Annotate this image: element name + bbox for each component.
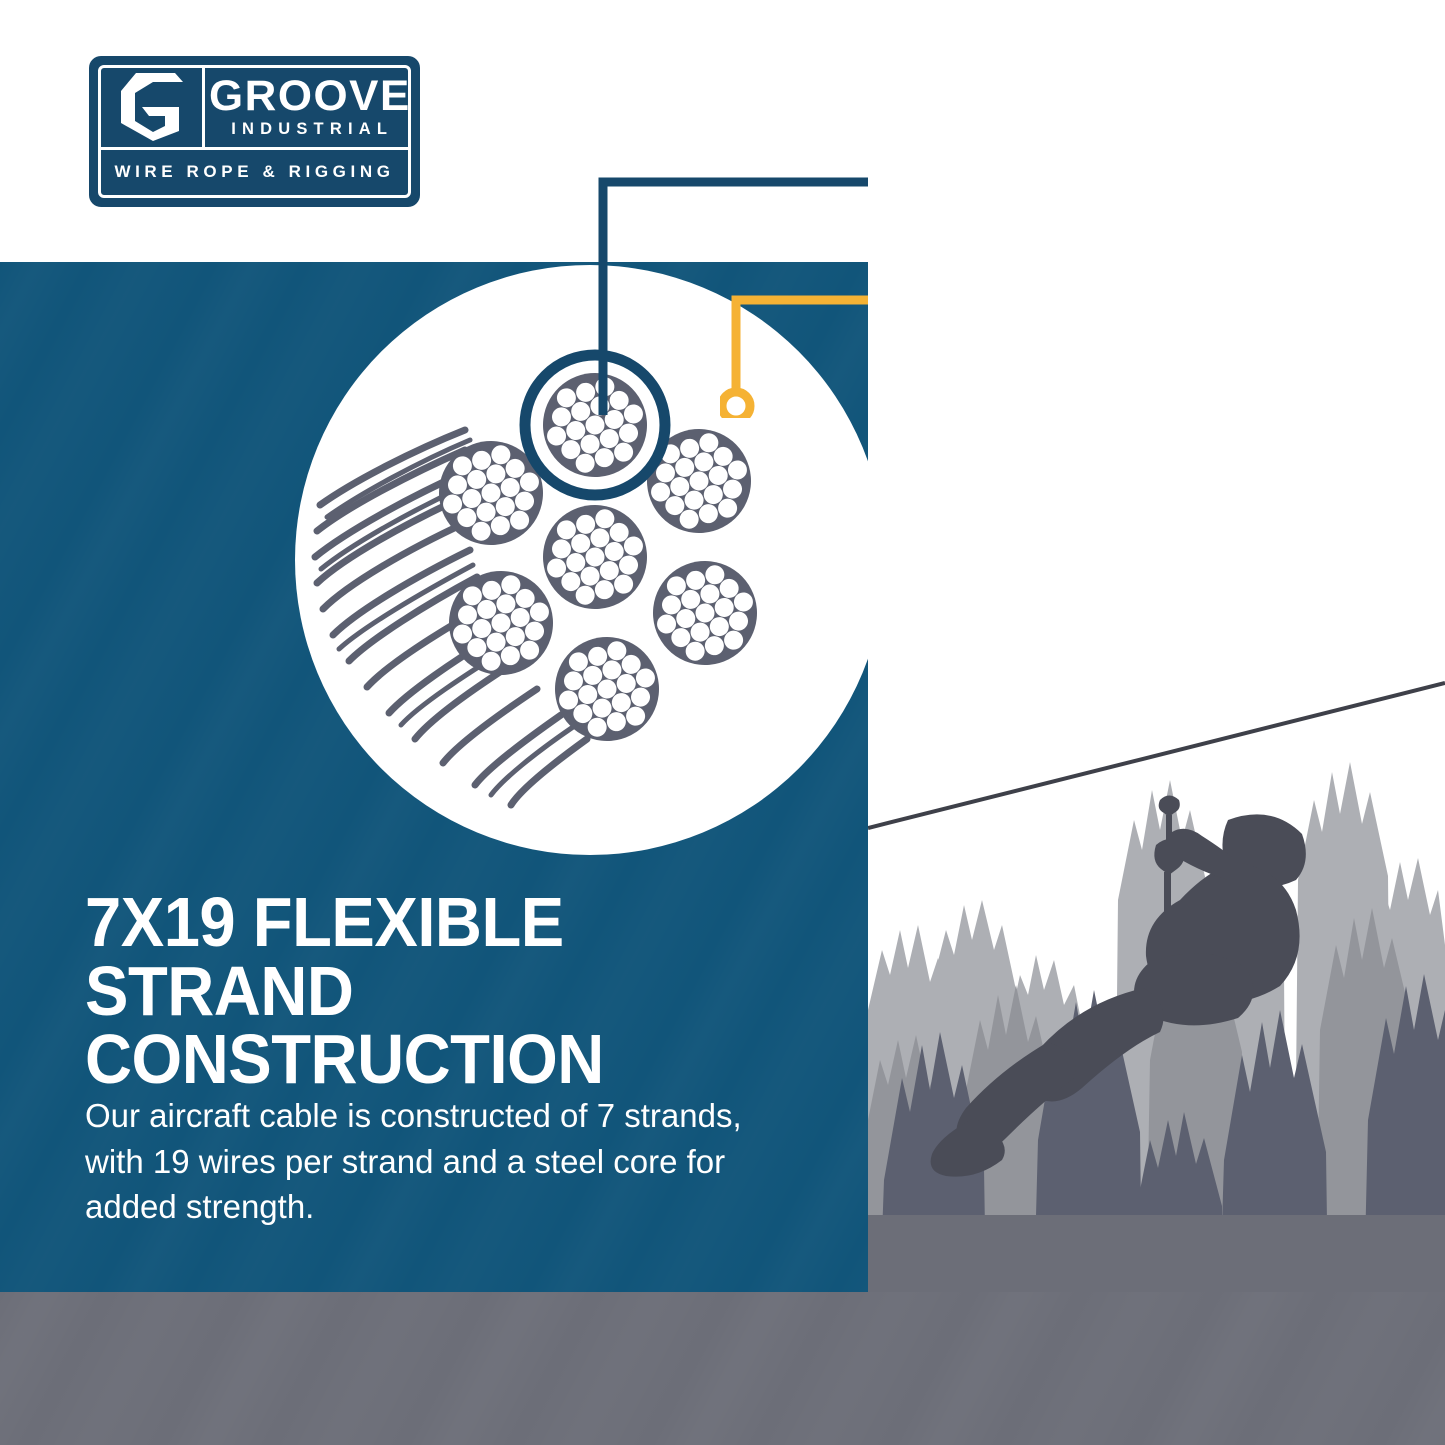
page-title-line1: 7X19 FLEXIBLE xyxy=(85,883,564,961)
infographic-page: GROOVE INDUSTRIAL WIRE ROPE & RIGGING xyxy=(0,0,1445,1445)
wire-target-ring-icon xyxy=(722,392,750,418)
brand-logo[interactable]: GROOVE INDUSTRIAL WIRE ROPE & RIGGING xyxy=(89,56,420,207)
logo-inner-frame: GROOVE INDUSTRIAL WIRE ROPE & RIGGING xyxy=(98,65,411,198)
logo-tagline-row: WIRE ROPE & RIGGING xyxy=(101,150,408,195)
page-title: 7X19 FLEXIBLE STRAND CONSTRUCTION xyxy=(85,888,792,1094)
description-text: Our aircraft cable is constructed of 7 s… xyxy=(85,1093,745,1230)
logo-subbrand-text: INDUSTRIAL xyxy=(231,120,393,138)
page-title-line2: STRAND CONSTRUCTION xyxy=(85,957,792,1094)
zipline-forest-photo xyxy=(868,0,1445,1292)
logo-top-row: GROOVE INDUSTRIAL xyxy=(101,68,408,150)
logo-tagline-text: WIRE ROPE & RIGGING xyxy=(114,162,394,182)
logo-wordmark: GROOVE INDUSTRIAL xyxy=(205,68,415,147)
footer-band xyxy=(0,1292,1445,1445)
groove-g-hexagon-icon xyxy=(101,68,205,147)
footer-wave-texture xyxy=(0,1292,1445,1445)
logo-brand-text: GROOVE xyxy=(209,77,411,117)
